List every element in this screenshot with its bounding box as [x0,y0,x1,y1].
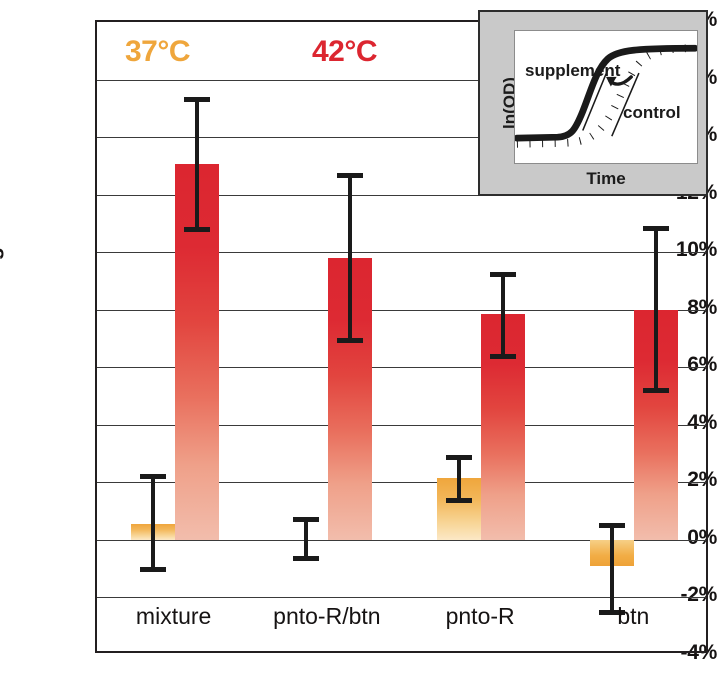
error-bar-cap [184,97,210,102]
x-tick-label: btn [557,603,710,630]
error-bar-cap [643,226,669,231]
error-bar-cap [293,556,319,561]
error-bar-cap [490,272,516,277]
inset-x-axis-label: Time [514,169,698,189]
error-bar-cap [337,173,363,178]
error-bar-cap [490,354,516,359]
error-bar-cap [140,567,166,572]
inset-label-supplement: supplement [525,61,620,81]
error-bar-stem [501,272,505,358]
x-tick-label: pnto-R [404,603,557,630]
inset-label-control: control [623,103,681,123]
error-bar-stem [151,474,155,572]
gridline [97,597,706,598]
figure-root: Growth rate change 18%16%14%12%10%8%6%4%… [0,0,717,675]
inset-plot-area: supplement control [514,30,698,164]
error-bar-cap [337,338,363,343]
x-tick-label: pnto-R/btn [250,603,403,630]
error-bar-cap [140,474,166,479]
error-bar-stem [195,97,199,232]
y-axis-label: Growth rate change [0,234,5,441]
error-bar-stem [457,455,461,502]
inset-growth-curves [515,31,697,163]
legend-label-37c: 37°C [125,35,190,69]
error-bar-cap [599,523,625,528]
error-bar-stem [610,523,614,615]
error-bar-cap [184,227,210,232]
error-bar-stem [304,517,308,561]
inset-panel: ln(OD) Time supplement control [478,10,708,196]
legend-label-42c: 42°C [312,35,377,69]
error-bar-cap [446,498,472,503]
error-bar-stem [654,226,658,393]
error-bar-cap [446,455,472,460]
error-bar-cap [643,388,669,393]
x-tick-label: mixture [97,603,250,630]
error-bar-stem [348,173,352,343]
error-bar-cap [293,517,319,522]
